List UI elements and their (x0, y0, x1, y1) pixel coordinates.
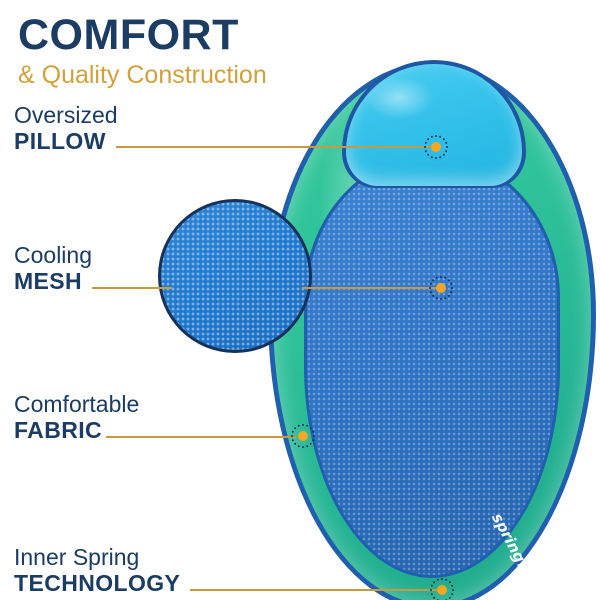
page-subtitle: & Quality Construction (18, 60, 438, 91)
leader-line-pillow (116, 146, 434, 148)
leader-line-fabric (106, 436, 296, 438)
callout-mesh-line2: MESH (14, 269, 92, 295)
callout-technology: Inner Spring TECHNOLOGY (14, 545, 180, 597)
float-mesh-panel (307, 157, 557, 575)
mesh-marker (428, 275, 454, 301)
page-title: COMFORT (18, 14, 438, 58)
technology-marker (429, 577, 455, 600)
callout-technology-line1: Inner Spring (14, 545, 180, 571)
heading-block: COMFORT & Quality Construction (18, 14, 438, 91)
callout-pillow-line1: Oversized (14, 103, 118, 129)
product-infographic: springfloat COMFORT & Quality Constructi… (0, 0, 600, 600)
fabric-marker (290, 423, 316, 449)
callout-pillow-line2: PILLOW (14, 129, 118, 155)
callout-mesh-line1: Cooling (14, 243, 92, 269)
pillow-marker (423, 134, 449, 160)
callout-technology-line2: TECHNOLOGY (14, 571, 180, 597)
leader-line-mesh-right (302, 287, 440, 289)
mesh-detail-circle (161, 202, 309, 350)
callout-mesh: Cooling MESH (14, 243, 92, 295)
leader-line-mesh-left (92, 287, 172, 289)
leader-line-technology (190, 589, 438, 591)
callout-pillow: Oversized PILLOW (14, 103, 118, 155)
callout-fabric-line2: FABRIC (14, 418, 139, 444)
callout-fabric-line1: Comfortable (14, 392, 139, 418)
